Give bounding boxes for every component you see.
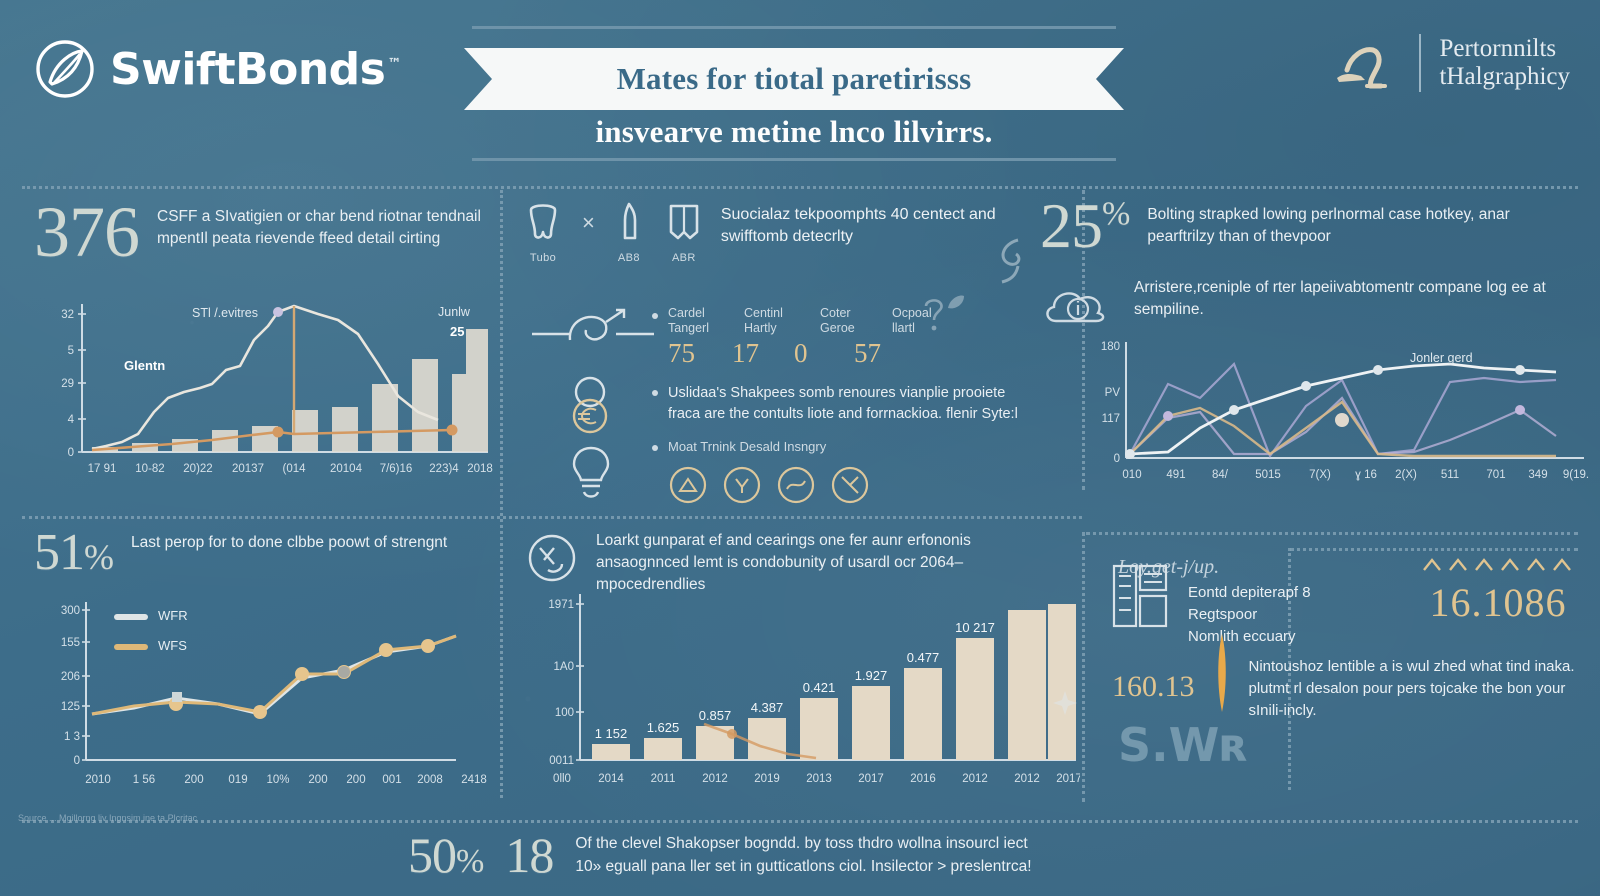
multiply-icon: × [582,198,595,236]
ytick: 206 [61,671,80,683]
tooth-icon [520,198,566,244]
ytick: 125 [61,701,80,713]
separator-middle-right [1086,532,1578,535]
svg-text:4: 4 [68,414,75,426]
mini-head-2-l1: Centinl [744,306,783,320]
ytick: 1 3 [64,731,80,743]
separator-br-inner [1290,548,1578,551]
xtick: 2010 [85,774,111,786]
gold-number-4: 57 [854,338,892,369]
br-gold-left-value: 160.13 [1112,656,1195,704]
xtick: 20)22 [183,463,212,475]
bm-copy: Loarkt gunparat ef and cearings one fer … [596,530,1066,596]
xtick: 200 [308,774,327,786]
chart-legend: WFR WFS [114,608,188,653]
chart-annotation-jonler: Jonler gerd [1410,351,1473,365]
mini-head-2-l2: Hartly [744,321,777,335]
lightbulb-hand-icon [560,440,622,502]
star-decor-icon [1050,688,1080,723]
svg-text:29: 29 [61,378,74,390]
diver-silhouette-icon [1323,34,1401,92]
candle-icon-group: AB8 [611,198,647,264]
ytick: 0 [1114,453,1120,465]
bullet-dot-icon [652,313,658,319]
panel-bottom-mid: Loarkt gunparat ef and cearings one fer … [524,530,1084,596]
mid-bullets: CardelTangerl CentinlHartly CoterGeroe O… [652,292,1022,505]
swoosh-circle-icon [524,530,580,586]
xtick: 491 [1166,469,1185,481]
pillar-icon-group: ABR [663,198,705,264]
mini-head-3-l2: Geroe [820,321,855,335]
bullet-dot-icon [652,445,658,451]
down-arrow-icon [1209,632,1235,716]
xtick: 511 [1441,469,1459,481]
ytick: 100 [555,707,574,719]
brand-name: SwiftBonds™ [110,44,401,95]
br-text-block: Eontd depiterapf 8 Regtspoor Nomlith ecc… [1188,560,1311,647]
euro-coin-icon [560,372,620,438]
pillar-icon-caption: ABR [663,252,705,264]
panel-top-right: 25% Bolting strapked lowing perlnormal c… [1040,196,1588,337]
bm-header: Loarkt gunparat ef and cearings one fer … [524,530,1084,596]
stat-value-25-number: 25 [1040,190,1102,261]
banner-rule-bottom [472,158,1116,161]
chart-bottom-mid: 0011 100 1A0 1971 [520,588,1080,801]
legend-label-wfs: WFS [158,638,187,653]
stat-value-51: 51% [34,528,113,577]
ytick: 1A0 [554,661,574,673]
footer-stat-50: 50% [408,832,483,880]
xtick: 2418 [461,774,487,786]
chevron-row-icon [1420,556,1576,574]
bullet-3: Moat Trnink Desald Insngry [652,438,1022,504]
stat-block-25: 25% Bolting strapked lowing perlnormal c… [1040,196,1588,257]
gold-number-3: 0 [794,338,832,369]
mini-head-1-l1: Cardel [668,306,705,320]
xtick: 9(19. [1563,469,1589,481]
ytick: 180 [1101,341,1120,353]
stat-value-51-percent: % [84,537,113,577]
brand-logo[interactable]: SwiftBonds™ [34,38,401,100]
xtick: 001 [382,774,401,786]
xtick: 20137 [232,463,264,475]
mini-head-1-l2: Tangerl [668,321,709,335]
bar-label: 1.927 [855,668,888,683]
panel-bottom-left: 51% Last perop for to done clbbe poowt o… [34,528,494,577]
xtick: 7/6)16 [380,463,413,475]
ytick: 300 [61,605,80,617]
br-text-line1: Eontd depiterapf 8 [1188,584,1311,601]
footer: 50% 18 Of the clevel Shakopser bogndd. b… [0,824,1600,896]
separator-col-1 [500,190,503,798]
partner-name-line1: Pertornnilts [1439,35,1556,62]
br-gold-metric: 16.1086 [1420,556,1576,626]
bar-label: 1 152 [595,726,628,741]
leaf-icon [944,290,968,319]
brand-name-text: SwiftBonds [110,44,385,95]
stat-copy-51: Last perop for to done clbbe poowt of st… [131,528,447,554]
cloud-copy-block: Arristere,rceniple of rter lapeiivabtome… [1040,275,1588,337]
stat-value-51-number: 51 [34,524,84,581]
xtick: 2018 [467,463,493,475]
bar-label: 1.625 [647,720,680,735]
svg-text:0: 0 [68,447,74,459]
ytick: 117 [1102,413,1120,425]
br-text-line3: Nomlith eccuary [1188,628,1296,645]
separator-middle-left [22,516,1082,519]
br-text-line2: Regtspoor [1188,606,1257,623]
br-gold-top-value: 16.1086 [1420,579,1576,626]
xtick: 20104 [330,463,363,475]
mini-head-3-l1: Coter [820,306,851,320]
banner-title-line1: Mates for tiotal paretirisss [617,61,972,97]
xtick: 2008 [417,774,443,786]
gold-number-1: 75 [668,338,710,369]
xtick: 223)4 [429,463,459,475]
xtick: 010 [1122,469,1141,481]
br-body-copy: Nintoushoz lentible a is wul zhed what t… [1249,656,1579,721]
xtick: 019 [228,774,247,786]
bar-label: 0.857 [699,708,732,723]
xtick: (014 [282,463,306,475]
bar-label: 10 217 [955,620,995,635]
partner-logo[interactable]: Pertornnilts tHalgraphicy [1323,34,1570,92]
chart-right-anno-line2: 25 [450,324,464,339]
chart-series-label-glentn: Glentn [124,358,165,373]
target-circle-icon [722,465,762,505]
xtick: 2012 [1014,773,1040,785]
swiftbonds-circle-leaf-logo [34,38,96,100]
chart-bottom-left: 0 1 3 125 206 155 300 WFR WFS [26,588,496,798]
header: SwiftBonds™ Mates for tiotal paretirisss… [0,0,1600,172]
xtick: 1 56 [133,774,155,786]
gold-number-row: 75 17 0 57 [668,338,948,369]
stat-value-25: 25% [1040,196,1129,257]
bar-label: 4.387 [751,700,784,715]
panel-top-mid: Tubo × AB8 ABR Suocialaz tekpoomphts 40 … [520,198,1065,264]
watermark-text: S.Wʀ [1118,718,1249,772]
xtick: 84/ [1212,469,1229,481]
banner-ribbon: Mates for tiotal paretirisss [464,48,1124,110]
xtick: 2011 [651,773,676,785]
stat-copy-376: CSFF a SIvatigien or char bend riotnar t… [157,198,487,250]
pillar-icon [663,198,705,244]
xtick: 2017 [858,773,884,785]
xtick: 349 [1528,469,1547,481]
stat-block-51: 51% Last perop for to done clbbe poowt o… [34,528,494,577]
xtick: 2013 [806,773,832,785]
xtick: ɣ 16 [1355,469,1377,481]
stat-value-376: 376 [34,198,139,266]
trend-circle-icon [776,465,816,505]
xtick: 2014 [598,773,624,785]
footer-stat-50-percent: % [456,843,483,880]
ytick: 0 [74,755,80,767]
mid-side-icons [528,300,658,365]
xtick: 7(X) [1309,469,1331,481]
compass-circle-icon [830,465,870,505]
mini-head-row: CardelTangerl CentinlHartly CoterGeroe O… [668,306,948,336]
xtick: 2(X) [1395,469,1417,481]
chart-right-anno-line1: Junlw [438,305,471,319]
chart-subtitle-anno: STl /.evitres [192,306,258,320]
candle-icon [611,198,647,244]
tooth-icon-caption: Tubo [520,252,566,264]
bar-label: 0.421 [803,680,836,695]
trademark-symbol: ™ [387,56,401,72]
bullet-2-text: Uslidaa's Shakpees somb renoures vianpli… [668,383,1022,424]
banner-rule-top [472,26,1116,29]
lightbulb-hand-icon-group [560,440,622,507]
banner-title-line2: insvearve metine lnco lilvirrs. [464,114,1124,150]
svg-text:5: 5 [68,345,74,357]
document-list-icon [1108,560,1172,632]
footer-stat-50-number: 50 [408,827,456,883]
chart-top-right: 0 117 PV 180 Jonler gerd 010 491 [1092,336,1590,491]
icon-row-top: Tubo × AB8 ABR Suocialaz tekpoomphts 40 … [520,198,1065,264]
footer-copy-line2: 10» eguall pana ller set in gutticatlons… [575,858,1031,875]
chart-top-left: 0 4 29 5 32 [26,292,496,487]
xtick: 2012 [962,773,988,785]
partner-name: Pertornnilts tHalgraphicy [1439,35,1570,91]
growth-circle-icon [668,465,708,505]
footer-stat-18: 18 [505,832,553,880]
mini-head-4-l2: llartl [892,321,915,335]
xtick: 10-82 [135,463,164,475]
candle-icon-caption: AB8 [611,252,647,264]
partner-divider [1419,34,1421,92]
bullet-dot-icon [652,390,658,396]
tooth-icon-group: Tubo [520,198,566,264]
xtick: 2016 [910,773,936,785]
ytick: 155 [61,637,80,649]
title-banner: Mates for tiotal paretirisss insvearve m… [464,22,1124,164]
xtick: 701 [1486,469,1505,481]
br-bottom-block: 160.13 Nintoushoz lentible a is wul zhed… [1112,656,1579,721]
xtick: 2012 [702,773,728,785]
footer-copy: Of the clevel Shakopser bogndd. by toss … [575,833,1031,878]
xtick: 17 91 [88,463,117,475]
bullet-3-text: Moat Trnink Desald Insngry [668,438,870,456]
ytick: PV [1105,387,1121,399]
ytick: 0011 [549,755,574,767]
stat-copy-25: Bolting strapked lowing perlnormal case … [1147,196,1567,248]
svg-text:32: 32 [61,309,74,321]
comma-icon [988,230,1034,293]
euro-coin-icon-group [560,372,620,443]
infographic-canvas: SwiftBonds™ Mates for tiotal paretirisss… [0,0,1600,896]
stat-value-25-percent: % [1102,196,1129,233]
xtick: 200 [184,774,203,786]
stat-copy-25-secondary: Arristere,rceniple of rter lapeiivabtome… [1134,275,1554,337]
panel-top-left: 376 CSFF a SIvatigien or char bend riotn… [34,198,494,266]
xtick: 0ll0 [553,773,571,785]
ytick: 1971 [548,599,574,611]
separator-top [22,186,1578,189]
legend-label-wfr: WFR [158,608,188,623]
circle-icon-row [668,465,870,505]
br-watermark: S.Wʀ [1118,718,1249,772]
footer-copy-line1: Of the clevel Shakopser bogndd. by toss … [575,835,1027,852]
cloud-info-icon [1040,275,1116,337]
arrow-curve-icon [528,300,658,360]
bullet-2: Uslidaa's Shakpees somb renoures vianpli… [652,383,1022,424]
partner-name-line2: tHalgraphicy [1439,63,1570,90]
separator-footer [22,820,1578,823]
xtick: 2019 [754,773,780,785]
stat-block-376: 376 CSFF a SIvatigien or char bend riotn… [34,198,494,266]
xtick: 200 [346,774,365,786]
bar-label: 0.477 [907,650,940,665]
xtick: 5015 [1255,469,1281,481]
gold-number-2: 17 [732,338,772,369]
xtick: 10% [266,774,289,786]
xtick: 2017 [1056,773,1080,785]
